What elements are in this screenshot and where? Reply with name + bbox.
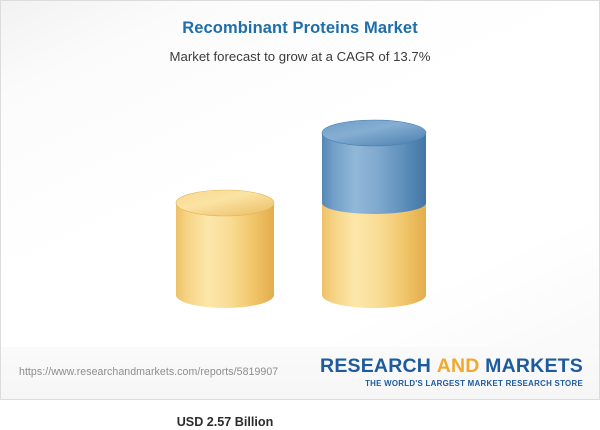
brand-logo[interactable]: RESEARCH AND MARKETS THE WORLD'S LARGEST…	[320, 355, 583, 389]
cylinder-2029-svg	[322, 120, 426, 308]
cylinder-2025-top-cap	[176, 190, 274, 216]
cylinder-2025-body	[176, 203, 274, 308]
cylinder-2025-svg	[176, 190, 274, 308]
infographic-card: Recombinant Proteins Market Market forec…	[0, 0, 600, 400]
cylinder-bar-2025	[176, 190, 274, 308]
brand-word-and: AND	[437, 355, 480, 377]
brand-word-markets: MARKETS	[485, 355, 583, 377]
value-label-2025: USD 2.57 Billion	[161, 415, 289, 430]
chart-subtitle: Market forecast to grow at a CAGR of 13.…	[1, 38, 599, 65]
brand-word-research: RESEARCH	[320, 355, 431, 377]
report-url-link[interactable]: https://www.researchandmarkets.com/repor…	[19, 366, 278, 378]
brand-wordmark: RESEARCH AND MARKETS	[320, 355, 583, 377]
page-title: Recombinant Proteins Market	[1, 18, 599, 38]
cylinder-2029-base-segment	[322, 203, 426, 308]
footer: https://www.researchandmarkets.com/repor…	[1, 347, 599, 399]
chart-plot-area: USD 2.57 Billion	[1, 86, 599, 336]
cylinder-2029-top-cap	[322, 120, 426, 146]
cylinder-bar-2029	[322, 120, 426, 308]
brand-tagline: THE WORLD'S LARGEST MARKET RESEARCH STOR…	[320, 377, 583, 389]
chart-header: Recombinant Proteins Market Market forec…	[1, 1, 599, 65]
